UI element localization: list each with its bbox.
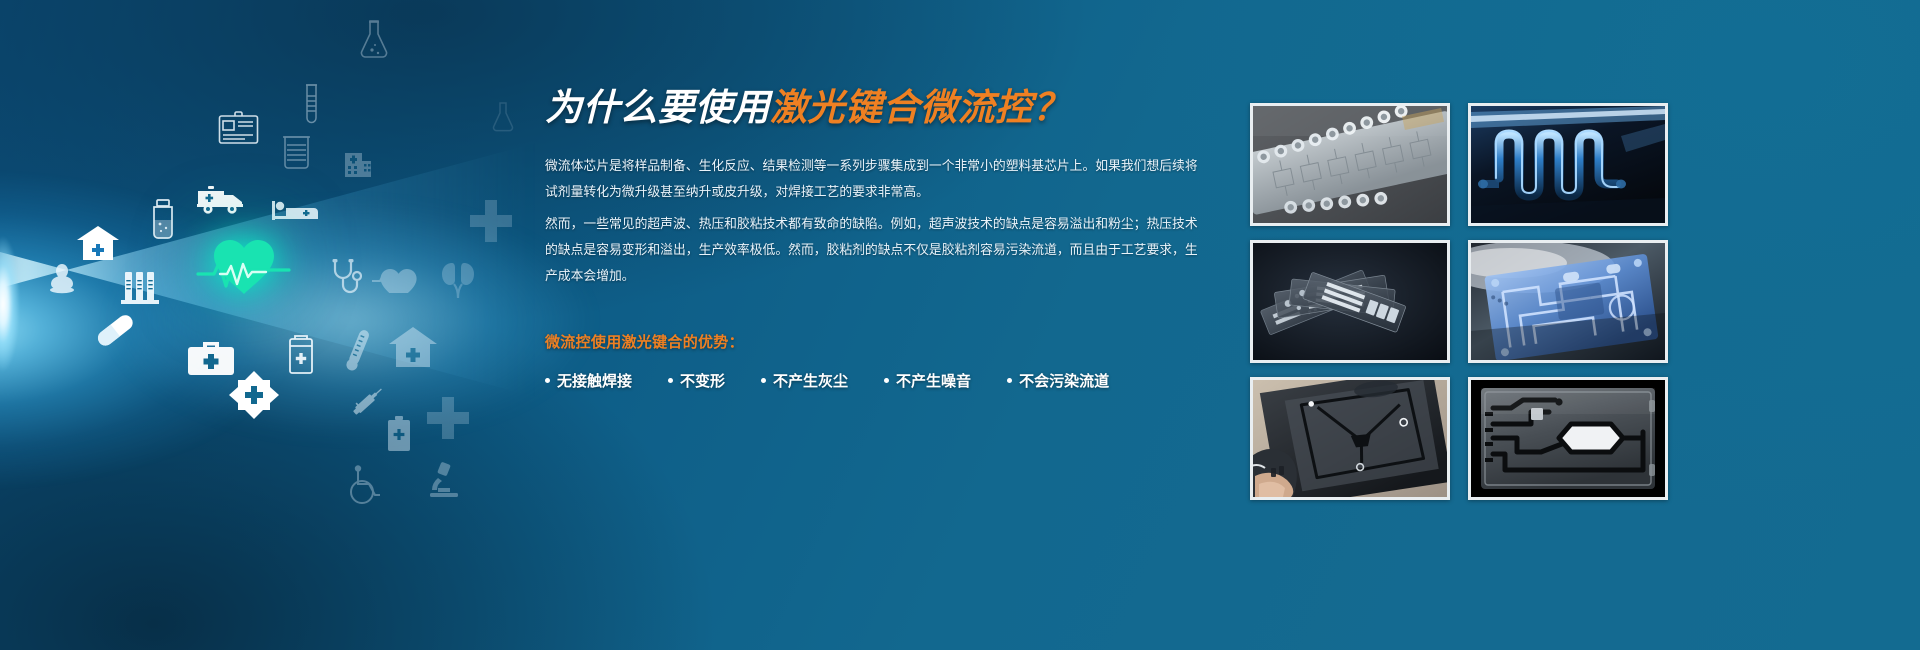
hand-holding-black-cartridge [1253, 380, 1447, 497]
stethoscope-icon [329, 258, 362, 300]
plus-cross-icon [425, 395, 471, 441]
cross-diamond-icon [229, 370, 279, 420]
advantages-list: 无接触焊接 不变形 不产生灰尘 不产生噪音 不会污染流道 [545, 370, 1205, 391]
flask-icon [490, 100, 516, 134]
thermometer-icon [342, 327, 374, 373]
microscope-icon [425, 460, 463, 502]
tooth-icon [47, 262, 77, 296]
plus-cross-icon [468, 198, 514, 244]
flask-icon [357, 18, 391, 62]
bullet-dot-icon [884, 378, 889, 383]
syringe-icon [349, 382, 387, 420]
body-paragraph-1: 微流体芯片是将样品制备、生化反应、结果检测等一系列步骤集成到一个非常小的塑料基芯… [545, 153, 1205, 205]
test-tube-rack-icon [119, 268, 161, 310]
bullet-dot-icon [761, 378, 766, 383]
page-title: 为什么要使用激光键合微流控？ [545, 88, 1205, 129]
heart-ecg-glow-icon [196, 230, 296, 316]
iv-bag-icon [286, 333, 316, 379]
battery-cross-icon [386, 415, 412, 453]
headline-lead: 为什么要使用 [545, 87, 770, 128]
advantage-label: 不会污染流道 [1019, 370, 1109, 391]
id-badge-icon [217, 110, 260, 146]
black-cassette-with-channels [1471, 380, 1665, 497]
ambulance-icon [196, 183, 246, 216]
gallery-item[interactable] [1250, 240, 1450, 363]
gallery-item[interactable] [1468, 240, 1668, 363]
advantage-label: 不产生灰尘 [773, 370, 848, 391]
hospital-bed-icon [271, 196, 319, 224]
list-item: 不变形 [668, 370, 725, 391]
hospital-building-icon [341, 145, 375, 179]
bullet-dot-icon [1007, 378, 1012, 383]
product-image-grid [1250, 103, 1668, 500]
list-item: 不会污染流道 [1007, 370, 1109, 391]
body-paragraph-2: 然而，一些常见的超声波、热压和胶粘技术都有致命的缺陷。例如，超声波技术的缺点是容… [545, 211, 1205, 289]
heart-pulse-icon [371, 265, 419, 293]
blue-serpentine-channel-chip [1471, 106, 1665, 223]
banner-stage: 为什么要使用激光键合微流控？ 微流体芯片是将样品制备、生化反应、结果检测等一系列… [0, 0, 1920, 650]
beaker-icon [280, 133, 313, 172]
headline-accent: 激光键合微流控？ [770, 87, 1070, 128]
clinic-house-icon [76, 224, 120, 262]
advantage-label: 无接触焊接 [557, 370, 632, 391]
pill-capsule-icon [92, 313, 138, 347]
bullet-dot-icon [668, 378, 673, 383]
bullet-dot-icon [545, 378, 550, 383]
house-cross-icon [388, 325, 438, 369]
list-item: 无接触焊接 [545, 370, 632, 391]
advantage-label: 不产生噪音 [896, 370, 971, 391]
gallery-item[interactable] [1468, 103, 1668, 226]
gallery-item[interactable] [1250, 103, 1450, 226]
gallery-item[interactable] [1468, 377, 1668, 500]
fanned-microfluidic-chip-array [1253, 243, 1447, 360]
wheelchair-icon [346, 465, 382, 505]
kidneys-icon [436, 260, 480, 300]
test-tube-icon [303, 82, 320, 127]
clear-microfluidic-chip-with-ports [1253, 106, 1447, 223]
text-column: 为什么要使用激光键合微流控？ 微流体芯片是将样品制备、生化反应、结果检测等一系列… [545, 88, 1205, 407]
gallery-item[interactable] [1250, 377, 1450, 500]
advantages-subheading: 微流控使用激光键合的优势： [545, 331, 1205, 352]
medicine-bottle-icon [149, 198, 177, 240]
blue-transparent-cartridge [1471, 243, 1665, 360]
list-item: 不产生噪音 [884, 370, 971, 391]
list-item: 不产生灰尘 [761, 370, 848, 391]
advantage-label: 不变形 [680, 370, 725, 391]
